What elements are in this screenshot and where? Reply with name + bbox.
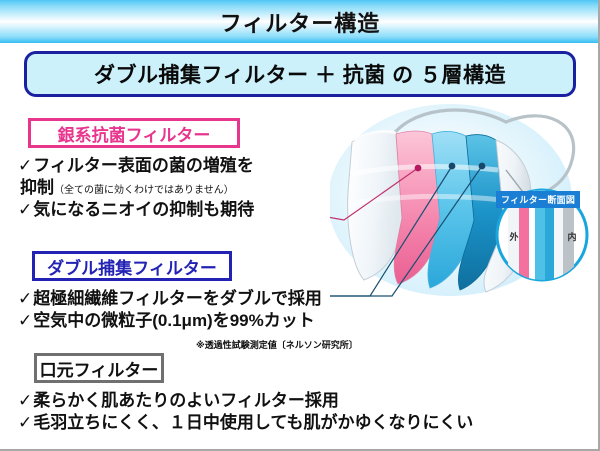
cross-section-label: フィルター断面図 xyxy=(496,191,580,208)
bullet-item-continuation: 抑制（全ての菌に効くわけではありません） xyxy=(18,177,254,199)
check-icon: ✓ xyxy=(18,391,32,410)
section-label-double-capture: ダブル捕集フィルター xyxy=(32,251,232,281)
leader-dot-blue-light xyxy=(449,163,456,170)
cross-section-outer-mark: 外 xyxy=(508,231,518,242)
bullet-item: ✓空気中の微粒子(0.1μm)を99%カット xyxy=(18,310,322,332)
bullet-text: 抑制 xyxy=(20,178,54,197)
section-label-text: 口元フィルター xyxy=(40,356,159,381)
bullet-text: 空気中の微粒子(0.1μm)を99%カット xyxy=(33,311,315,330)
subtitle-text: ダブル捕集フィルター ＋ 抗菌 の ５層構造 xyxy=(94,59,506,89)
check-icon: ✓ xyxy=(18,413,32,432)
leader-dot-blue-dark xyxy=(479,163,486,170)
section-label-mouth-filter: 口元フィルター xyxy=(34,353,164,383)
check-icon: ✓ xyxy=(18,156,32,175)
cross-section-inner-mark: 内 xyxy=(567,231,576,242)
section-label-text: ダブル捕集フィルター xyxy=(47,254,217,279)
bullet-item: ✓毛羽立ちにくく、１日中使用しても肌がかゆくなりにくい xyxy=(18,412,473,434)
bullet-text: フィルター表面の菌の増殖を xyxy=(33,156,254,175)
check-icon: ✓ xyxy=(18,289,32,308)
infographic-page: フィルター構造 ダブル捕集フィルター ＋ 抗菌 の ５層構造 銀系抗菌フィルター… xyxy=(0,0,600,451)
section-bullets-double-capture: ✓超極細繊維フィルターをダブルで採用 ✓空気中の微粒子(0.1μm)を99%カッ… xyxy=(18,288,322,332)
section-bullets-mouth-filter: ✓柔らかく肌あたりのよいフィルター採用 ✓毛羽立ちにくく、１日中使用しても肌がか… xyxy=(18,390,473,434)
bullet-note: （全ての菌に効くわけではありません） xyxy=(54,185,234,196)
bullet-text: 気になるニオイの抑制も期待 xyxy=(33,200,254,219)
bullet-item: ✓フィルター表面の菌の増殖を xyxy=(18,155,254,177)
bullet-text: 毛羽立ちにくく、１日中使用しても肌がかゆくなりにくい xyxy=(33,413,473,432)
bullet-item: ✓柔らかく肌あたりのよいフィルター採用 xyxy=(18,390,473,412)
footnote-test-method: ※透過性試験測定値〔ネルソン研究所〕 xyxy=(196,338,358,351)
leader-dot-pink xyxy=(415,165,422,172)
check-icon: ✓ xyxy=(18,200,32,219)
bullet-item: ✓気になるニオイの抑制も期待 xyxy=(18,199,254,221)
check-icon: ✓ xyxy=(18,311,32,330)
section-label-silver-antibacterial: 銀系抗菌フィルター xyxy=(28,118,240,148)
subtitle-box: ダブル捕集フィルター ＋ 抗菌 の ５層構造 xyxy=(24,51,576,97)
section-label-text: 銀系抗菌フィルター xyxy=(58,121,211,146)
bullet-text: 柔らかく肌あたりのよいフィルター採用 xyxy=(33,391,339,410)
section-bullets-silver-antibacterial: ✓フィルター表面の菌の増殖を 抑制（全ての菌に効くわけではありません） ✓気にな… xyxy=(18,155,254,220)
bullet-item: ✓超極細繊維フィルターをダブルで採用 xyxy=(18,288,322,310)
page-title: フィルター構造 xyxy=(0,6,600,38)
bullet-text: 超極細繊維フィルターをダブルで採用 xyxy=(33,289,322,308)
